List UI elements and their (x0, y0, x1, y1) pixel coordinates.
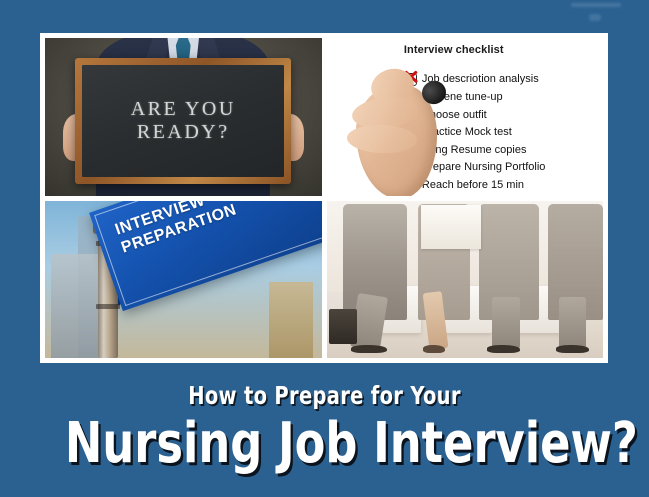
checklist-rows: Job descriotion analysis Hygiene tune-up… (404, 71, 598, 194)
watermark-artifact (567, 2, 627, 28)
checkbox[interactable] (404, 179, 417, 192)
pole-band (96, 304, 120, 308)
interview-checklist-photo: Interview checklist Job descriotion anal… (327, 38, 604, 196)
checklist-item-label: Prepare Nursing Portfolio (422, 162, 546, 173)
checkbox[interactable] (404, 91, 417, 104)
x-mark-icon (403, 69, 419, 85)
image-collage-card: ARE YOU READY? Interview checklist Job d… (40, 33, 608, 363)
page-title: Nursing Job Interview? (65, 416, 584, 472)
checkbox[interactable] (404, 126, 417, 139)
checklist-item[interactable]: Job descriotion analysis (404, 71, 598, 89)
checklist-item[interactable]: Bring Resume copies (404, 141, 598, 159)
candidate-shoe (351, 345, 387, 354)
checkbox[interactable] (404, 73, 417, 86)
newspaper (421, 205, 482, 249)
checkbox[interactable] (404, 161, 417, 174)
checklist-title: Interview checklist (404, 44, 504, 56)
checklist-item-label: Job descriotion analysis (422, 74, 539, 85)
chalkboard-line-2: READY? (137, 122, 230, 144)
sign-line-2: PREPARATION (119, 201, 239, 258)
briefcase (329, 309, 357, 344)
candidate-leg (559, 297, 587, 349)
sign-text: INTERVIEW PREPARATION (113, 201, 239, 258)
checklist-item-label: Choose outfit (422, 110, 487, 121)
street-sign-photo: INTERVIEW PREPARATION (45, 201, 322, 359)
sign-line-1: INTERVIEW (113, 201, 233, 241)
checklist-item-label: Reach before 15 min (422, 180, 524, 191)
subtitle-text: How to Prepare for Your (71, 383, 577, 408)
chalkboard-line-1: ARE YOU (131, 99, 236, 121)
watermark-dot (589, 14, 601, 21)
checklist-item[interactable]: Choose outfit (404, 106, 598, 124)
candidate-leg (492, 297, 520, 349)
chalkboard-face: ARE YOU READY? (82, 65, 284, 177)
chalkboard-photo: ARE YOU READY? (45, 38, 322, 196)
checklist-item[interactable]: Practice Mock test (404, 124, 598, 142)
candidate-shoe (556, 345, 589, 354)
checklist-item[interactable]: Prepare Nursing Portfolio (404, 159, 598, 177)
background-building (269, 282, 313, 358)
checklist-item-label: Hygiene tune-up (422, 92, 503, 103)
checklist-item-label: Practice Mock test (422, 127, 512, 138)
checkbox[interactable] (404, 144, 417, 157)
checklist-item-label: Bring Resume copies (422, 145, 527, 156)
checklist-item[interactable]: Reach before 15 min (404, 177, 598, 195)
checklist-item[interactable]: Hygiene tune-up (404, 89, 598, 107)
checkbox[interactable] (404, 109, 417, 122)
chalkboard-frame: ARE YOU READY? (75, 58, 291, 184)
waiting-candidates-photo (327, 201, 604, 359)
candidate-shoe (487, 345, 520, 354)
candidate-shoe (423, 345, 445, 354)
watermark-bar (571, 3, 621, 7)
